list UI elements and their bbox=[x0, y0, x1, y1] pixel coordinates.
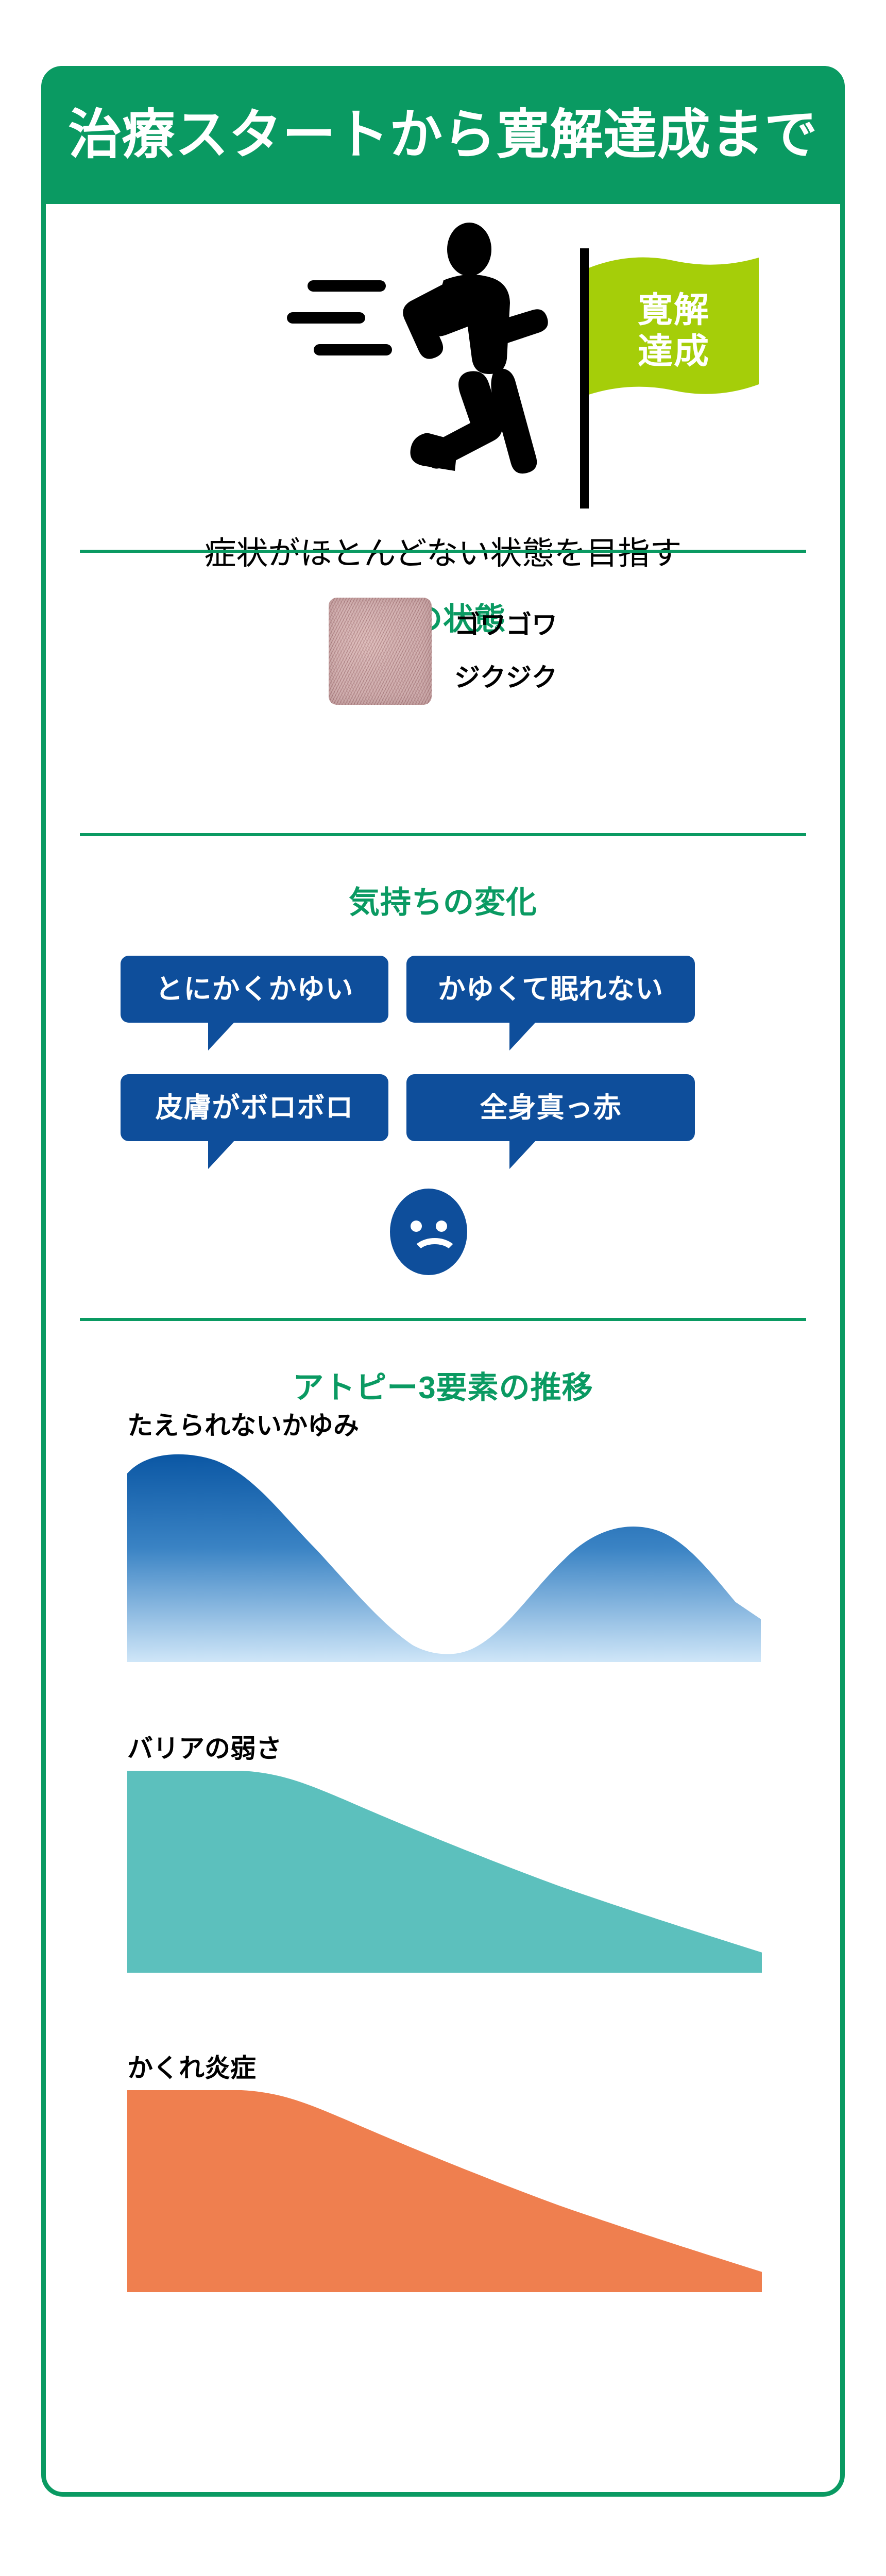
skin-texture-photo bbox=[329, 598, 432, 705]
flagpole bbox=[580, 248, 589, 509]
sad-face-frown bbox=[411, 1238, 459, 1273]
hero-section: 寛解 達成 症状がほとんどない状態を目指す bbox=[46, 204, 840, 544]
goal-flag bbox=[589, 255, 759, 407]
chart-inflammation-area bbox=[127, 2090, 762, 2292]
sad-face-icon bbox=[390, 1189, 467, 1275]
speech-bubble-4-label: 全身真っ赤 bbox=[480, 1094, 622, 1122]
speech-bubble-tail bbox=[509, 1022, 536, 1050]
speech-bubble-1: とにかくかゆい bbox=[121, 956, 388, 1023]
feelings-section-title: 気持ちの変化 bbox=[46, 887, 840, 918]
speech-bubble-3: 皮膚がボロボロ bbox=[121, 1074, 388, 1141]
feelings-section: とにかくかゆい かゆくて眠れない 皮膚がボロボロ 全身真っ赤 bbox=[46, 956, 840, 1275]
speech-bubble-tail bbox=[208, 1140, 235, 1169]
hero-caption: 症状がほとんどない状態を目指す bbox=[46, 538, 840, 570]
sad-face-eye-right bbox=[436, 1221, 447, 1232]
chart-barrier-area bbox=[127, 1771, 762, 1973]
divider-3 bbox=[80, 1318, 806, 1321]
running-person-icon bbox=[262, 214, 551, 534]
infographic-card: 治療スタートから寛解達成まで bbox=[41, 66, 845, 2497]
speech-bubble-2: かゆくて眠れない bbox=[406, 956, 695, 1023]
chart-inflammation-label: かくれ炎症 bbox=[127, 2055, 256, 2081]
chart-itch-area bbox=[127, 1448, 761, 1662]
speech-bubble-4: 全身真っ赤 bbox=[406, 1074, 695, 1141]
sad-face-eye-left bbox=[411, 1221, 422, 1232]
divider-1 bbox=[80, 550, 806, 553]
skin-label-1: ゴワゴワ bbox=[454, 612, 557, 638]
speech-bubble-tail bbox=[509, 1140, 536, 1169]
skin-section: ゴワゴワ ジクジク bbox=[46, 598, 840, 705]
divider-2 bbox=[80, 833, 806, 836]
page-title: 治療スタートから寛解達成まで bbox=[68, 108, 817, 162]
speech-bubble-3-label: 皮膚がボロボロ bbox=[156, 1094, 354, 1122]
charts-section-title: アトピー3要素の推移 bbox=[46, 1372, 840, 1403]
chart-barrier-label: バリアの弱さ bbox=[127, 1736, 282, 1761]
header-bar: 治療スタートから寛解達成まで bbox=[41, 66, 845, 204]
speech-bubble-2-label: かゆくて眠れない bbox=[438, 975, 663, 1003]
skin-label-2: ジクジク bbox=[454, 665, 557, 690]
skin-labels: ゴワゴワ ジクジク bbox=[454, 612, 557, 690]
speech-bubble-1-label: とにかくかゆい bbox=[156, 975, 354, 1003]
chart-itch-label: たえられないかゆみ bbox=[127, 1413, 359, 1438]
speech-bubble-tail bbox=[208, 1022, 235, 1050]
